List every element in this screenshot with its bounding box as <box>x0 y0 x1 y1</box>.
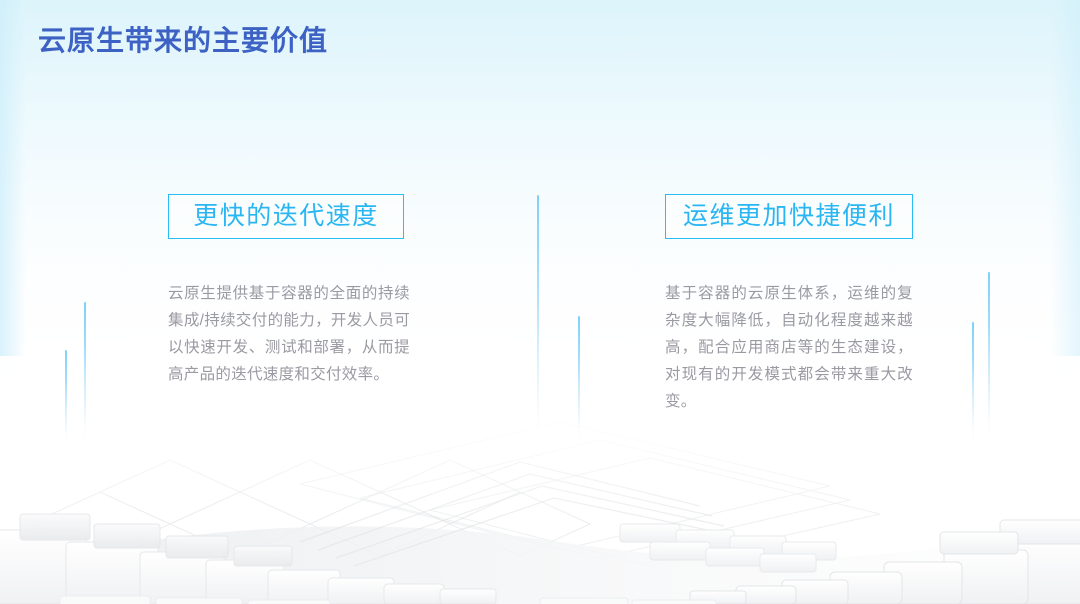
value-heading-box-1: 更快的迭代速度 <box>168 194 404 239</box>
value-columns: 更快的迭代速度 云原生提供基于容器的全面的持续集成/持续交付的能力，开发人员可以… <box>0 0 1080 604</box>
value-body-text-2: 基于容器的云原生体系，运维的复杂度大幅降低，自动化程度越来越高，配合应用商店等的… <box>665 280 913 415</box>
value-body-text-1: 云原生提供基于容器的全面的持续集成/持续交付的能力，开发人员可以快速开发、测试和… <box>168 280 410 388</box>
value-heading-box-2: 运维更加快捷便利 <box>665 194 913 239</box>
value-heading-label-2: 运维更加快捷便利 <box>683 204 895 229</box>
slide-canvas: 云原生带来的主要价值 更快的迭代速度 云原生提供基于容器的全面的持续集成/持续交… <box>0 0 1080 604</box>
value-heading-label-1: 更快的迭代速度 <box>193 204 379 229</box>
